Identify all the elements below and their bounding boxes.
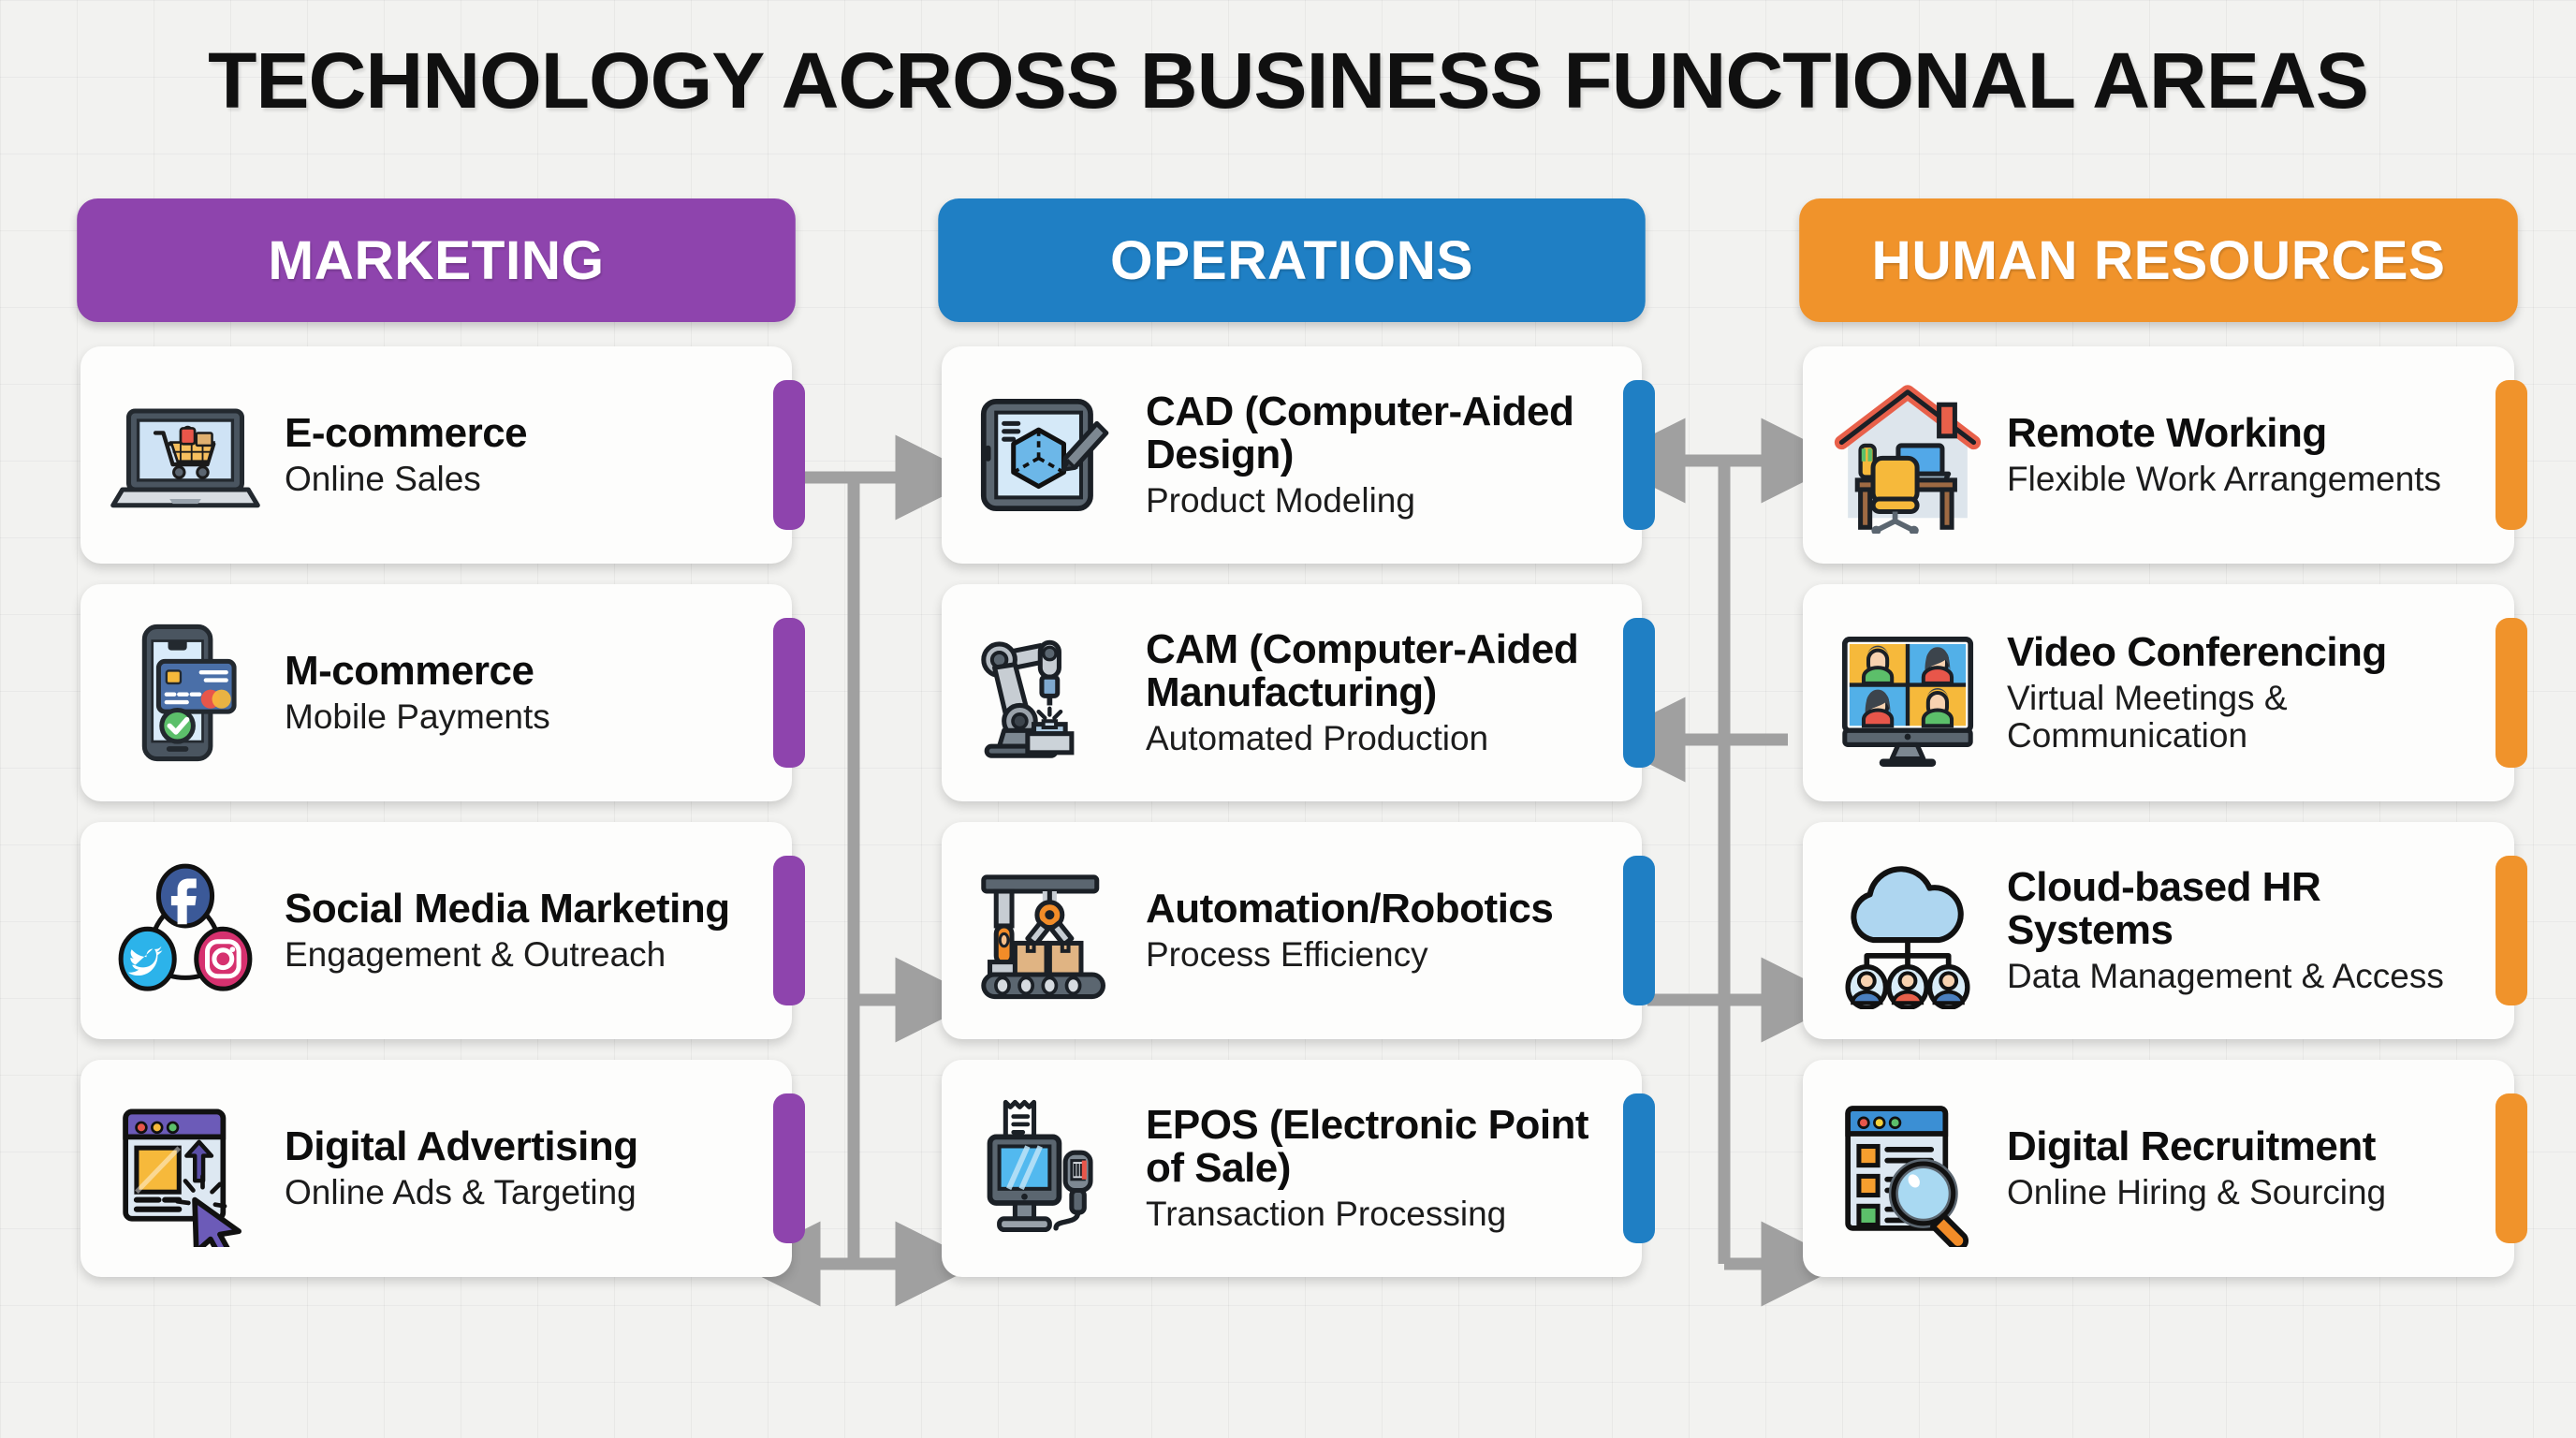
card-accent-bar <box>2495 1093 2527 1243</box>
card-text: Cloud-based HR Systems Data Management &… <box>2007 866 2495 994</box>
card-title: Cloud-based HR Systems <box>2007 866 2488 952</box>
card-accent-bar <box>1623 618 1655 768</box>
card-cam[interactable]: CAM (Computer-Aided Manufacturing) Autom… <box>942 584 1642 801</box>
card-text: Automation/Robotics Process Efficiency <box>1146 888 1560 974</box>
card-subtitle: Online Ads & Targeting <box>285 1174 638 1211</box>
card-title: E-commerce <box>285 412 527 455</box>
card-social-media-marketing[interactable]: Social Media Marketing Engagement & Outr… <box>80 822 792 1039</box>
card-text: Digital Recruitment Online Hiring & Sour… <box>2007 1125 2393 1211</box>
card-accent-bar <box>773 380 805 530</box>
card-subtitle: Process Efficiency <box>1146 936 1553 974</box>
card-accent-bar <box>1623 856 1655 1005</box>
card-epos[interactable]: EPOS (Electronic Point of Sale) Transact… <box>942 1060 1642 1277</box>
card-title: CAD (Computer-Aided Design) <box>1146 390 1616 477</box>
column-header-marketing: MARKETING <box>77 198 796 322</box>
card-title: Digital Advertising <box>285 1125 638 1168</box>
resume-magnifier-icon <box>1825 1086 1990 1251</box>
column-header-operations: OPERATIONS <box>938 198 1645 322</box>
card-text: EPOS (Electronic Point of Sale) Transact… <box>1146 1104 1623 1232</box>
card-subtitle: Product Modeling <box>1146 482 1616 520</box>
card-accent-bar <box>773 1093 805 1243</box>
card-cloud-based-hr-systems[interactable]: Cloud-based HR Systems Data Management &… <box>1803 822 2514 1039</box>
card-accent-bar <box>773 618 805 768</box>
video-call-grid-icon <box>1825 610 1990 775</box>
cloud-users-icon <box>1825 848 1990 1013</box>
conveyor-robot-icon <box>964 848 1129 1013</box>
card-text: Remote Working Flexible Work Arrangement… <box>2007 412 2449 498</box>
card-accent-bar <box>1623 380 1655 530</box>
card-e-commerce[interactable]: E-commerce Online Sales <box>80 346 792 564</box>
card-title: M-commerce <box>285 650 550 693</box>
card-digital-advertising[interactable]: Digital Advertising Online Ads & Targeti… <box>80 1060 792 1277</box>
card-accent-bar <box>773 856 805 1005</box>
column-operations: OPERATIONS CAD (Computer-Aided Design) P… <box>942 198 1642 1298</box>
card-title: EPOS (Electronic Point of Sale) <box>1146 1104 1616 1190</box>
card-accent-bar <box>2495 380 2527 530</box>
card-title: CAM (Computer-Aided Manufacturing) <box>1146 628 1616 714</box>
column-marketing: MARKETING E- <box>80 198 792 1298</box>
social-network-icon <box>103 848 268 1013</box>
card-subtitle: Engagement & Outreach <box>285 936 730 974</box>
card-subtitle: Mobile Payments <box>285 698 550 736</box>
card-title: Digital Recruitment <box>2007 1125 2386 1168</box>
card-text: E-commerce Online Sales <box>285 412 534 498</box>
card-title: Video Conferencing <box>2007 631 2488 674</box>
home-office-desk-icon <box>1825 373 1990 537</box>
card-subtitle: Data Management & Access <box>2007 958 2488 995</box>
card-digital-recruitment[interactable]: Digital Recruitment Online Hiring & Sour… <box>1803 1060 2514 1277</box>
card-text: CAM (Computer-Aided Manufacturing) Autom… <box>1146 628 1623 756</box>
card-remote-working[interactable]: Remote Working Flexible Work Arrangement… <box>1803 346 2514 564</box>
card-text: CAD (Computer-Aided Design) Product Mode… <box>1146 390 1623 519</box>
column-header-human-resources: HUMAN RESOURCES <box>1799 198 2518 322</box>
card-subtitle: Online Hiring & Sourcing <box>2007 1174 2386 1211</box>
card-title: Social Media Marketing <box>285 888 730 931</box>
robotic-arm-icon <box>964 610 1129 775</box>
browser-ad-cursor-icon <box>103 1086 268 1251</box>
card-text: Digital Advertising Online Ads & Targeti… <box>285 1125 646 1211</box>
card-subtitle: Online Sales <box>285 461 527 498</box>
card-accent-bar <box>2495 618 2527 768</box>
card-list-operations: CAD (Computer-Aided Design) Product Mode… <box>942 346 1642 1277</box>
card-m-commerce[interactable]: M-commerce Mobile Payments <box>80 584 792 801</box>
card-accent-bar <box>2495 856 2527 1005</box>
card-subtitle: Flexible Work Arrangements <box>2007 461 2441 498</box>
card-text: Social Media Marketing Engagement & Outr… <box>285 888 738 974</box>
card-subtitle: Virtual Meetings & Communication <box>2007 680 2488 755</box>
card-title: Automation/Robotics <box>1146 888 1553 931</box>
card-title: Remote Working <box>2007 412 2441 455</box>
card-text: Video Conferencing Virtual Meetings & Co… <box>2007 631 2495 755</box>
column-human-resources: HUMAN RESOURCES <box>1803 198 2514 1298</box>
drawing-tablet-cube-icon <box>964 373 1129 537</box>
card-cad[interactable]: CAD (Computer-Aided Design) Product Mode… <box>942 346 1642 564</box>
card-text: M-commerce Mobile Payments <box>285 650 558 736</box>
smartphone-credit-card-icon <box>103 610 268 775</box>
pos-terminal-scanner-icon <box>964 1086 1129 1251</box>
card-subtitle: Automated Production <box>1146 720 1616 757</box>
card-accent-bar <box>1623 1093 1655 1243</box>
laptop-shopping-cart-icon <box>103 373 268 537</box>
card-list-human-resources: Remote Working Flexible Work Arrangement… <box>1803 346 2514 1277</box>
card-video-conferencing[interactable]: Video Conferencing Virtual Meetings & Co… <box>1803 584 2514 801</box>
card-list-marketing: E-commerce Online Sales <box>80 346 792 1277</box>
card-automation-robotics[interactable]: Automation/Robotics Process Efficiency <box>942 822 1642 1039</box>
page-title: TECHNOLOGY ACROSS BUSINESS FUNCTIONAL AR… <box>0 36 2576 126</box>
card-subtitle: Transaction Processing <box>1146 1196 1616 1233</box>
